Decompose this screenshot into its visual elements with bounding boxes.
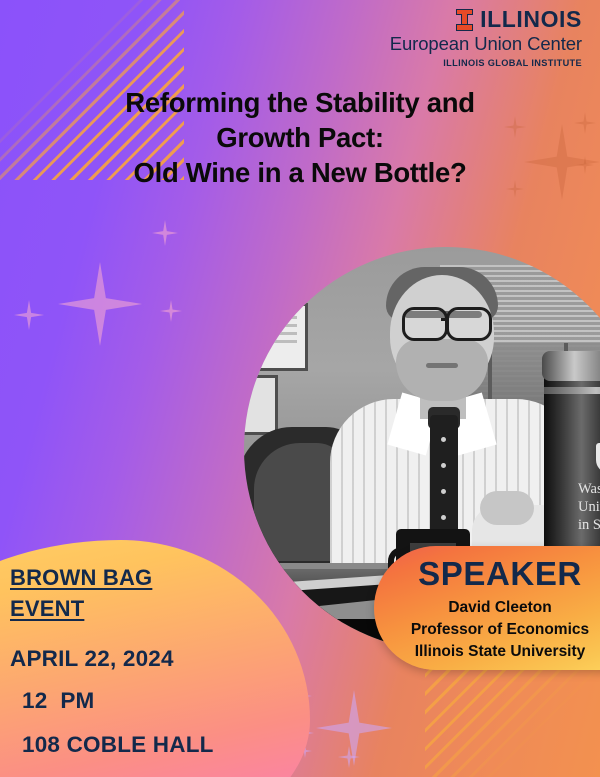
illinois-euc-logo: ILLINOIS European Union Center ILLINOIS … [390,8,582,68]
sparkle-icon [58,262,142,346]
sparkle-icon [574,112,596,134]
event-location: 108 COBLE HALL [10,732,278,758]
sparkle-icon [576,156,594,174]
tumbler-logo-text: Washing Universi in St.Lo [578,481,600,535]
page-title: Reforming the Stability and Growth Pact:… [30,86,570,191]
sparkle-icon [152,220,178,246]
speaker-affiliation: Illinois State University [374,641,600,663]
event-kind-line-2: EVENT [10,593,278,624]
event-kind-line-1: BROWN BAG [10,562,278,593]
sparkle-icon [160,300,182,322]
title-line-1: Reforming the Stability and [30,86,570,121]
sparkle-icon [14,300,44,330]
title-line-2: Growth Pact: [30,121,570,156]
sparkle-icon [316,690,392,766]
event-time: 12 PM [10,688,278,714]
sparkle-icon [338,746,360,768]
event-date: APRIL 22, 2024 [10,646,278,672]
speaker-role: Professor of Economics [374,619,600,641]
event-details: BROWN BAG EVENT APRIL 22, 2024 12 PM 108… [10,562,278,758]
logo-institute-name: ILLINOIS GLOBAL INSTITUTE [390,58,582,68]
title-line-3: Old Wine in a New Bottle? [30,156,570,191]
speaker-name: David Cleeton [374,597,600,619]
speaker-heading: SPEAKER [374,546,600,592]
logo-unit-name: European Union Center [390,33,582,55]
speaker-panel: SPEAKER David Cleeton Professor of Econo… [374,546,600,670]
logo-wordmark: ILLINOIS [480,8,582,31]
illinois-block-i-icon [456,9,473,31]
event-poster: Washing Universi in St.Lo ILLINOIS Europ… [0,0,600,777]
